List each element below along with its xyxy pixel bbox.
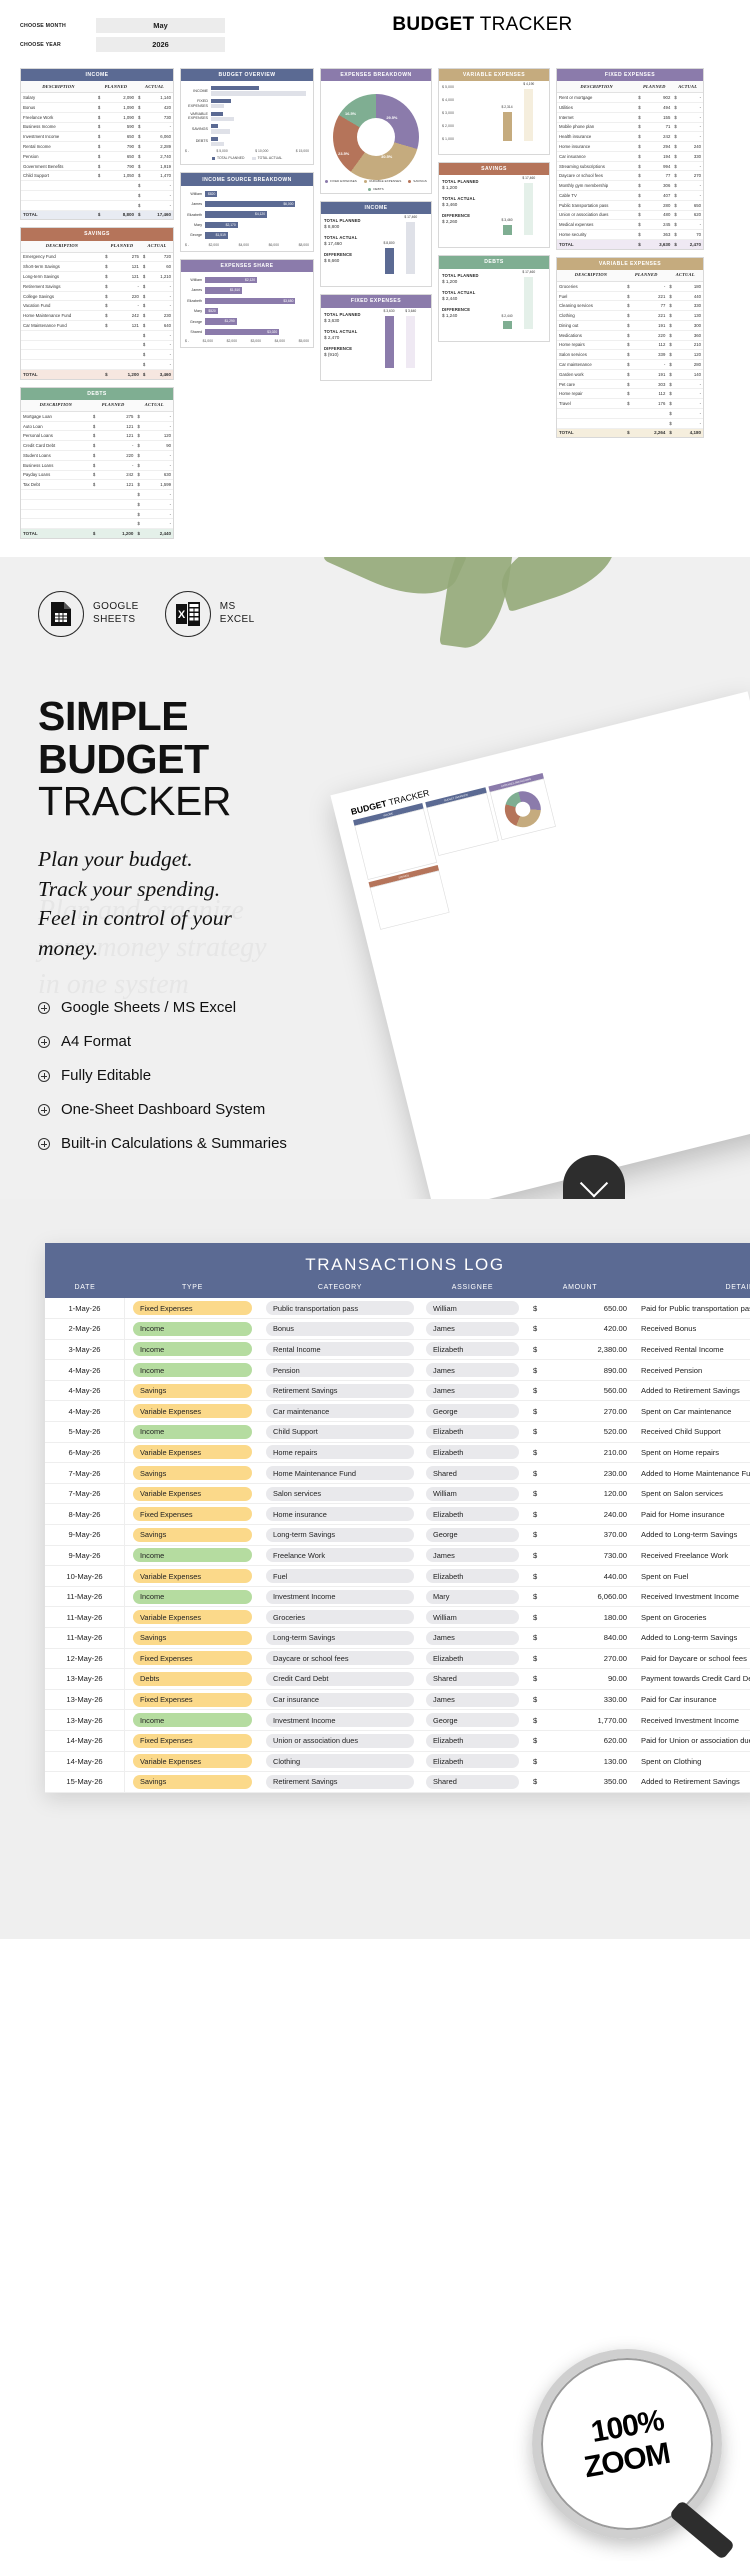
cell-assignee[interactable]: George xyxy=(420,1404,525,1418)
table-row[interactable]: 9-May-26SavingsLong-term SavingsGeorge$3… xyxy=(45,1525,750,1546)
table-row[interactable]: 3-May-26IncomeRental IncomeElizabeth$2,3… xyxy=(45,1340,750,1361)
bar-fill: $2,120 xyxy=(205,277,257,283)
cell-type[interactable]: Fixed Expenses xyxy=(125,1651,260,1665)
row-currency: $ xyxy=(672,102,679,112)
row-actual: 330 xyxy=(679,151,703,161)
table-row[interactable]: 11-May-26SavingsLong-term SavingsJames$8… xyxy=(45,1628,750,1649)
cell-category[interactable]: Credit Card Debt xyxy=(260,1672,420,1686)
table-row: Student Loans$220$- xyxy=(21,450,173,460)
table-row: $- xyxy=(21,509,173,519)
plus-icon xyxy=(38,1104,50,1116)
table-row[interactable]: 6-May-26Variable ExpensesHome repairsEli… xyxy=(45,1443,750,1464)
cell-type[interactable]: Income xyxy=(125,1425,260,1439)
row-currency: $ xyxy=(136,151,143,161)
cell-assignee[interactable]: George xyxy=(420,1528,525,1542)
cell-assignee[interactable]: James xyxy=(420,1631,525,1645)
row-currency: $ xyxy=(103,252,110,262)
row-currency: $ xyxy=(667,399,674,409)
kpi-metric: TOTAL PLANNED$ 8,800 xyxy=(324,218,372,229)
category-badge: Child Support xyxy=(266,1425,414,1439)
table-row: Credit Card Debt$-$90 xyxy=(21,441,173,451)
bar-value: $1,519 xyxy=(216,233,226,237)
transactions-log-title: TRANSACTIONS LOG xyxy=(45,1243,750,1284)
table-row[interactable]: 14-May-26Variable ExpensesClothingElizab… xyxy=(45,1752,750,1773)
table-row: College Savings$220$- xyxy=(21,291,173,301)
row-currency: $ xyxy=(625,330,632,340)
badge-line1: MS xyxy=(220,601,255,614)
table-row: Auto Loan$121$- xyxy=(21,421,173,431)
dashboard-column-kpi-a: EXPENSES BREAKDOWN 29.5% 30.5% 23.5% 16.… xyxy=(320,68,432,539)
income-total-actual: 17,460 xyxy=(143,210,173,219)
row-description: Rent or mortgage xyxy=(557,93,636,103)
kpi-metric-value: $ (910) xyxy=(324,352,372,357)
table-row[interactable]: 8-May-26Fixed ExpensesHome insuranceEliz… xyxy=(45,1504,750,1525)
cell-category[interactable]: Retirement Savings xyxy=(260,1775,420,1789)
row-description xyxy=(21,181,96,191)
plus-icon xyxy=(38,1002,50,1014)
kpi-bar-fill xyxy=(503,321,512,328)
cell-amount: $840.00 xyxy=(525,1633,635,1642)
cell-type[interactable]: Savings xyxy=(125,1384,260,1398)
cell-type[interactable]: Income xyxy=(125,1342,260,1356)
kpi-bar-fill xyxy=(406,222,415,274)
cell-type[interactable]: Variable Expenses xyxy=(125,1487,260,1501)
row-actual: 440 xyxy=(674,291,703,301)
table-row: Business Loans$-$- xyxy=(21,460,173,470)
cell-category[interactable]: Long-term Savings xyxy=(260,1528,420,1542)
assignee-badge: William xyxy=(426,1487,519,1501)
table-row: Retirement Savings$-$- xyxy=(21,281,173,291)
row-actual: - xyxy=(142,421,173,431)
cell-amount: $240.00 xyxy=(525,1510,635,1519)
kpi-income-card: INCOME TOTAL PLANNED$ 8,800TOTAL ACTUAL$… xyxy=(320,201,432,287)
cell-assignee[interactable]: Elizabeth xyxy=(420,1507,525,1521)
cell-date: 15-May-26 xyxy=(45,1772,125,1792)
table-row: Medical expenses$245$- xyxy=(557,220,703,230)
row-description xyxy=(21,499,91,509)
row-planned xyxy=(110,340,141,350)
row-actual: 60 xyxy=(148,262,173,272)
table-row[interactable]: 7-May-26SavingsHome Maintenance FundShar… xyxy=(45,1463,750,1484)
savings-total-row: TOTAL $ 1,200 $ 3,460 xyxy=(21,369,173,378)
savings-total-actual: 3,460 xyxy=(148,369,173,378)
row-currency: $ xyxy=(636,161,643,171)
table-row[interactable]: 4-May-26Variable ExpensesCar maintenance… xyxy=(45,1401,750,1422)
cell-assignee[interactable]: Elizabeth xyxy=(420,1569,525,1583)
cell-category[interactable]: Home insurance xyxy=(260,1507,420,1521)
row-planned: 176 xyxy=(632,399,667,409)
cell-type[interactable]: Savings xyxy=(125,1528,260,1542)
expenses-share-card: EXPENSES SHARE William$2,120James$1,510E… xyxy=(180,259,314,349)
category-badge: Groceries xyxy=(266,1610,414,1624)
row-description: Pension xyxy=(21,151,96,161)
cell-category[interactable]: Car maintenance xyxy=(260,1404,420,1418)
table-row: Bonus$1,090$420 xyxy=(21,102,173,112)
cell-type[interactable]: Debts xyxy=(125,1672,260,1686)
cell-date: 11-May-26 xyxy=(45,1628,125,1648)
table-row[interactable]: 7-May-26Variable ExpensesSalon servicesW… xyxy=(45,1484,750,1505)
dashboard-title-light: TRACKER xyxy=(480,14,573,35)
table-row: Travel$176$- xyxy=(557,399,703,409)
row-description: Cable TV xyxy=(557,190,636,200)
cell-assignee[interactable]: James xyxy=(420,1363,525,1377)
cell-assignee[interactable]: James xyxy=(420,1322,525,1336)
cell-amount: $650.00 xyxy=(525,1304,635,1313)
chevron-down-icon xyxy=(580,1170,608,1198)
row-actual: 1,599 xyxy=(142,480,173,490)
table-row[interactable]: 14-May-26Fixed ExpensesUnion or associat… xyxy=(45,1731,750,1752)
cell-category[interactable]: Investment Income xyxy=(260,1713,420,1727)
table-row[interactable]: 5-May-26IncomeChild SupportElizabeth$520… xyxy=(45,1422,750,1443)
table-row[interactable]: 13-May-26DebtsCredit Card DebtShared$90.… xyxy=(45,1669,750,1690)
row-actual: 2,289 xyxy=(143,142,173,152)
row-description: Car maintenance xyxy=(557,360,625,370)
cell-details: Spent on Home repairs xyxy=(635,1448,750,1457)
cell-category[interactable]: Clothing xyxy=(260,1754,420,1768)
cell-date: 9-May-26 xyxy=(45,1525,125,1545)
cell-date: 11-May-26 xyxy=(45,1607,125,1627)
kpi-metric-value: $ 17,460 xyxy=(324,241,372,246)
savings-total-planned: 1,200 xyxy=(110,369,141,378)
cell-details: Spent on Fuel xyxy=(635,1572,750,1581)
cell-assignee[interactable]: Elizabeth xyxy=(420,1734,525,1748)
kpi-fixed-bars: $ 3,630$ 3,640 xyxy=(372,312,428,376)
budget-overview-bars: INCOMEFIXED EXPENSESVARIABLE EXPENSESSAV… xyxy=(185,86,309,146)
table-row: $- xyxy=(21,181,173,191)
col-assignee: ASSIGNEE xyxy=(420,1284,525,1291)
assignee-badge: Elizabeth xyxy=(426,1754,519,1768)
type-badge: Variable Expenses xyxy=(133,1404,252,1418)
row-currency xyxy=(103,360,110,370)
row-currency: $ xyxy=(91,421,98,431)
cell-type[interactable]: Income xyxy=(125,1548,260,1562)
cell-assignee[interactable]: Shared xyxy=(420,1466,525,1480)
cell-category[interactable]: Public transportation pass xyxy=(260,1301,420,1315)
row-planned: - xyxy=(632,281,667,291)
cell-assignee[interactable]: William xyxy=(420,1487,525,1501)
row-planned: - xyxy=(110,301,141,311)
row-currency: $ xyxy=(672,171,679,181)
currency-symbol: $ xyxy=(533,1510,537,1519)
row-description: Payday Loans xyxy=(21,470,91,480)
amount-value: 240.00 xyxy=(604,1510,627,1519)
category-badge: Fuel xyxy=(266,1569,414,1583)
category-badge: Credit Card Debt xyxy=(266,1672,414,1686)
category-badge: Freelance Work xyxy=(266,1548,414,1562)
cell-assignee[interactable]: Elizabeth xyxy=(420,1445,525,1459)
cell-details: Spent on Groceries xyxy=(635,1613,750,1622)
cell-category[interactable]: Retirement Savings xyxy=(260,1384,420,1398)
cell-assignee[interactable]: Mary xyxy=(420,1590,525,1604)
axis-tick: $6,000 xyxy=(269,243,279,247)
cell-assignee[interactable]: Shared xyxy=(420,1775,525,1789)
row-currency: $ xyxy=(672,181,679,191)
currency-symbol: $ xyxy=(533,1304,537,1313)
table-row: Pension$650$2,740 xyxy=(21,151,173,161)
kpi-bar-value: $ 4,190 xyxy=(523,82,534,86)
cell-assignee[interactable]: Shared xyxy=(420,1672,525,1686)
cell-details: Paid for Car insurance xyxy=(635,1695,750,1704)
row-description: Home Maintenance Fund xyxy=(21,311,103,321)
cell-type[interactable]: Income xyxy=(125,1322,260,1336)
row-currency: $ xyxy=(636,93,643,103)
table-row[interactable]: 13-May-26Fixed ExpensesCar insuranceJame… xyxy=(45,1690,750,1711)
cell-assignee[interactable]: James xyxy=(420,1548,525,1562)
row-currency: $ xyxy=(636,220,643,230)
row-currency: $ xyxy=(672,132,679,142)
savings-table-title: SAVINGS xyxy=(21,228,173,240)
bar-value: $520 xyxy=(208,309,215,313)
cell-category[interactable]: Salon services xyxy=(260,1487,420,1501)
row-currency: $ xyxy=(136,122,143,132)
cell-category[interactable]: Freelance Work xyxy=(260,1548,420,1562)
table-row[interactable]: 15-May-26SavingsRetirement SavingsShared… xyxy=(45,1772,750,1793)
cell-type[interactable]: Variable Expenses xyxy=(125,1754,260,1768)
table-row[interactable]: 11-May-26Variable ExpensesGroceriesWilli… xyxy=(45,1607,750,1628)
cell-category[interactable]: Home repairs xyxy=(260,1445,420,1459)
cell-assignee[interactable]: Elizabeth xyxy=(420,1342,525,1356)
table-row: $- xyxy=(557,409,703,419)
table-row[interactable]: 9-May-26IncomeFreelance WorkJames$730.00… xyxy=(45,1546,750,1567)
row-planned: 306 xyxy=(643,181,672,191)
row-actual: - xyxy=(142,519,173,529)
table-row: Groceries$-$180 xyxy=(557,281,703,291)
row-currency: $ xyxy=(96,151,103,161)
table-row[interactable]: 4-May-26SavingsRetirement SavingsJames$5… xyxy=(45,1381,750,1402)
row-planned: 902 xyxy=(643,93,672,103)
feature-item: Fully Editable xyxy=(38,1067,712,1084)
loupe-handle xyxy=(669,2500,735,2560)
row-currency: $ xyxy=(625,320,632,330)
cell-amount: $440.00 xyxy=(525,1572,635,1581)
cell-amount: $6,060.00 xyxy=(525,1592,635,1601)
table-row[interactable]: 1-May-26Fixed ExpensesPublic transportat… xyxy=(45,1298,750,1319)
cell-category[interactable]: Bonus xyxy=(260,1322,420,1336)
cell-amount: $560.00 xyxy=(525,1386,635,1395)
cell-type[interactable]: Variable Expenses xyxy=(125,1569,260,1583)
overview-bar-track xyxy=(211,112,309,121)
cell-type[interactable]: Savings xyxy=(125,1631,260,1645)
row-currency: $ xyxy=(96,112,103,122)
row-actual: - xyxy=(148,281,173,291)
currency-symbol: $ xyxy=(533,1551,537,1560)
cell-category[interactable]: Union or association dues xyxy=(260,1734,420,1748)
cell-assignee[interactable]: William xyxy=(420,1610,525,1624)
table-row: $- xyxy=(21,360,173,370)
table-row: Dining out$191$300 xyxy=(557,320,703,330)
badge-line2: SHEETS xyxy=(93,614,139,627)
cell-type[interactable]: Variable Expenses xyxy=(125,1404,260,1418)
bar-track: $1,519 xyxy=(205,232,309,238)
row-description: Union or association dues xyxy=(557,210,636,220)
kpi-bar-fill xyxy=(503,225,512,235)
row-currency: $ xyxy=(136,112,143,122)
row-currency: $ xyxy=(667,281,674,291)
type-badge: Income xyxy=(133,1425,252,1439)
table-row[interactable]: 2-May-26IncomeBonusJames$420.00Received … xyxy=(45,1319,750,1340)
row-description: Short-term Savings xyxy=(21,262,103,272)
row-actual: 300 xyxy=(674,320,703,330)
row-description xyxy=(21,330,103,340)
kpi-metric-value: $ 3,460 xyxy=(442,202,490,207)
cell-assignee[interactable]: William xyxy=(420,1301,525,1315)
assignee-badge: James xyxy=(426,1384,519,1398)
cell-details: Spent on Car maintenance xyxy=(635,1407,750,1416)
axis-tick: $5,000 xyxy=(299,339,309,343)
bar-planned xyxy=(211,112,223,116)
cell-type[interactable]: Income xyxy=(125,1713,260,1727)
kpi-fixed-card: FIXED EXPENSES TOTAL PLANNED$ 3,630TOTAL… xyxy=(320,294,432,380)
cell-assignee[interactable]: Elizabeth xyxy=(420,1651,525,1665)
row-planned: - xyxy=(98,441,136,451)
row-planned: 363 xyxy=(643,230,672,240)
cell-category[interactable]: Groceries xyxy=(260,1610,420,1624)
cell-type[interactable]: Fixed Expenses xyxy=(125,1734,260,1748)
row-currency: $ xyxy=(91,470,98,480)
table-row: Mobile phone plan$71$- xyxy=(557,122,703,132)
hero-subtitle: Plan your budget. Track your spending. F… xyxy=(38,845,712,964)
variable-expenses-table-card: VARIABLE EXPENSES DESCRIPTION PLANNED AC… xyxy=(556,257,704,439)
row-planned: 121 xyxy=(98,431,136,441)
cell-category[interactable]: Rental Income xyxy=(260,1342,420,1356)
cell-date: 3-May-26 xyxy=(45,1340,125,1360)
cell-category[interactable]: Home Maintenance Fund xyxy=(260,1466,420,1480)
cell-category[interactable]: Pension xyxy=(260,1363,420,1377)
row-currency: $ xyxy=(103,291,110,301)
row-currency: $ xyxy=(96,93,103,103)
table-row[interactable]: 11-May-26IncomeInvestment IncomeMary$6,0… xyxy=(45,1587,750,1608)
currency-symbol: $ xyxy=(533,1633,537,1642)
row-currency: $ xyxy=(625,369,632,379)
row-actual: - xyxy=(679,220,703,230)
kpi-variable-body: $ 5,000$ 4,000$ 3,000$ 2,000$ 1,000 $ 2,… xyxy=(439,81,549,154)
cell-assignee[interactable]: Elizabeth xyxy=(420,1754,525,1768)
type-badge: Fixed Expenses xyxy=(133,1507,252,1521)
row-planned: - xyxy=(98,460,136,470)
expenses-breakdown-card: EXPENSES BREAKDOWN 29.5% 30.5% 23.5% 16.… xyxy=(320,68,432,194)
row-actual: 720 xyxy=(148,252,173,262)
badge-google-sheets-label: GOOGLE SHEETS xyxy=(93,601,139,626)
choose-month-value[interactable]: May xyxy=(96,18,225,33)
row-actual: 640 xyxy=(148,320,173,330)
dashboard-title: BUDGET TRACKER xyxy=(225,14,730,36)
row-planned: 155 xyxy=(643,112,672,122)
row-description: Salary xyxy=(21,93,96,103)
row-currency: $ xyxy=(636,210,643,220)
table-row: Payday Loans$242$630 xyxy=(21,470,173,480)
col-amount: AMOUNT xyxy=(525,1284,635,1291)
kpi-metric: TOTAL PLANNED$ 1,200 xyxy=(442,273,490,284)
donut-legend-item: VARIABLE EXPENSES xyxy=(364,179,401,183)
kpi-metric-value: $ 8,800 xyxy=(324,224,372,229)
cell-assignee[interactable]: George xyxy=(420,1713,525,1727)
cell-category[interactable]: Daycare or school fees xyxy=(260,1651,420,1665)
legend-item: TOTAL ACTUAL xyxy=(252,156,282,160)
axis-tick: $4,000 xyxy=(239,243,249,247)
cell-assignee[interactable]: James xyxy=(420,1693,525,1707)
table-row[interactable]: 10-May-26Variable ExpensesFuelElizabeth$… xyxy=(45,1566,750,1587)
row-currency: $ xyxy=(625,350,632,360)
axis-tick: $ 10,000 xyxy=(255,149,268,153)
row-actual: 1,470 xyxy=(143,171,173,181)
table-row[interactable]: 13-May-26IncomeInvestment IncomeGeorge$1… xyxy=(45,1710,750,1731)
cell-assignee[interactable]: Elizabeth xyxy=(420,1425,525,1439)
cell-assignee[interactable]: James xyxy=(420,1384,525,1398)
cell-category[interactable]: Investment Income xyxy=(260,1590,420,1604)
budget-overview-axis: $ -$ 5,000$ 10,000$ 15,000 xyxy=(185,149,309,153)
row-planned: 71 xyxy=(643,122,672,132)
row-currency: $ xyxy=(136,142,143,152)
cell-type[interactable]: Income xyxy=(125,1590,260,1604)
table-row: Government Benefits$790$1,919 xyxy=(21,161,173,171)
table-row: $- xyxy=(21,200,173,210)
type-badge: Variable Expenses xyxy=(133,1487,252,1501)
axis-tick: $ - xyxy=(185,243,189,247)
table-row: $- xyxy=(21,519,173,529)
assignee-badge: Elizabeth xyxy=(426,1569,519,1583)
cur: $ xyxy=(625,428,632,437)
kpi-bar-fill xyxy=(524,183,533,235)
row-currency: $ xyxy=(667,320,674,330)
kpi-bar-value: $ 2,314 xyxy=(502,105,513,109)
fixed-expenses-rows: Rent or mortgage$902$-Utilities$494$-Int… xyxy=(557,93,703,240)
table-row: Monthly gym membership$306$- xyxy=(557,181,703,191)
hero-title-line1: SIMPLE xyxy=(38,693,188,739)
cell-type[interactable]: Fixed Expenses xyxy=(125,1301,260,1315)
fixed-total-planned: 3,630 xyxy=(643,239,672,248)
choose-year-value[interactable]: 2026 xyxy=(96,37,225,52)
assignee-badge: William xyxy=(426,1301,519,1315)
cell-category[interactable]: Long-term Savings xyxy=(260,1631,420,1645)
bar-value: $4,120 xyxy=(255,212,265,216)
row-actual: 130 xyxy=(674,311,703,321)
cell-category[interactable]: Child Support xyxy=(260,1425,420,1439)
bar-label: James xyxy=(185,202,205,206)
row-planned xyxy=(103,190,136,200)
feature-label: Built-in Calculations & Summaries xyxy=(61,1135,287,1152)
kpi-metric: TOTAL ACTUAL$ 2,470 xyxy=(324,329,372,340)
row-planned: 121 xyxy=(98,480,136,490)
row-planned: 275 xyxy=(98,411,136,421)
table-row: Union or association dues$480$620 xyxy=(557,210,703,220)
row-actual: 1,140 xyxy=(143,93,173,103)
debts-total-row: TOTAL $ 1,200 $ 2,440 xyxy=(21,529,173,538)
cell-category[interactable]: Car insurance xyxy=(260,1693,420,1707)
cell-type[interactable]: Variable Expenses xyxy=(125,1445,260,1459)
col-date: DATE xyxy=(45,1284,125,1291)
category-badge: Long-term Savings xyxy=(266,1528,414,1542)
currency-symbol: $ xyxy=(533,1695,537,1704)
cell-type[interactable]: Fixed Expenses xyxy=(125,1507,260,1521)
kpi-bar: $ 17,460 xyxy=(524,277,533,329)
table-row: $- xyxy=(557,418,703,428)
cell-type[interactable]: Savings xyxy=(125,1775,260,1789)
cell-amount: $270.00 xyxy=(525,1654,635,1663)
row-currency: $ xyxy=(103,262,110,272)
cell-type[interactable]: Savings xyxy=(125,1466,260,1480)
debts-rows: Mortgage Loan$275$-Auto Loan$121$-Person… xyxy=(21,411,173,528)
assignee-badge: James xyxy=(426,1548,519,1562)
cell-type[interactable]: Variable Expenses xyxy=(125,1610,260,1624)
category-badge: Public transportation pass xyxy=(266,1301,414,1315)
table-row[interactable]: 12-May-26Fixed ExpensesDaycare or school… xyxy=(45,1649,750,1670)
table-row[interactable]: 4-May-26IncomePensionJames$890.00Receive… xyxy=(45,1360,750,1381)
cell-category[interactable]: Fuel xyxy=(260,1569,420,1583)
cell-type[interactable]: Fixed Expenses xyxy=(125,1693,260,1707)
row-actual: 70 xyxy=(679,230,703,240)
cell-type[interactable]: Income xyxy=(125,1363,260,1377)
row-actual: - xyxy=(674,399,703,409)
